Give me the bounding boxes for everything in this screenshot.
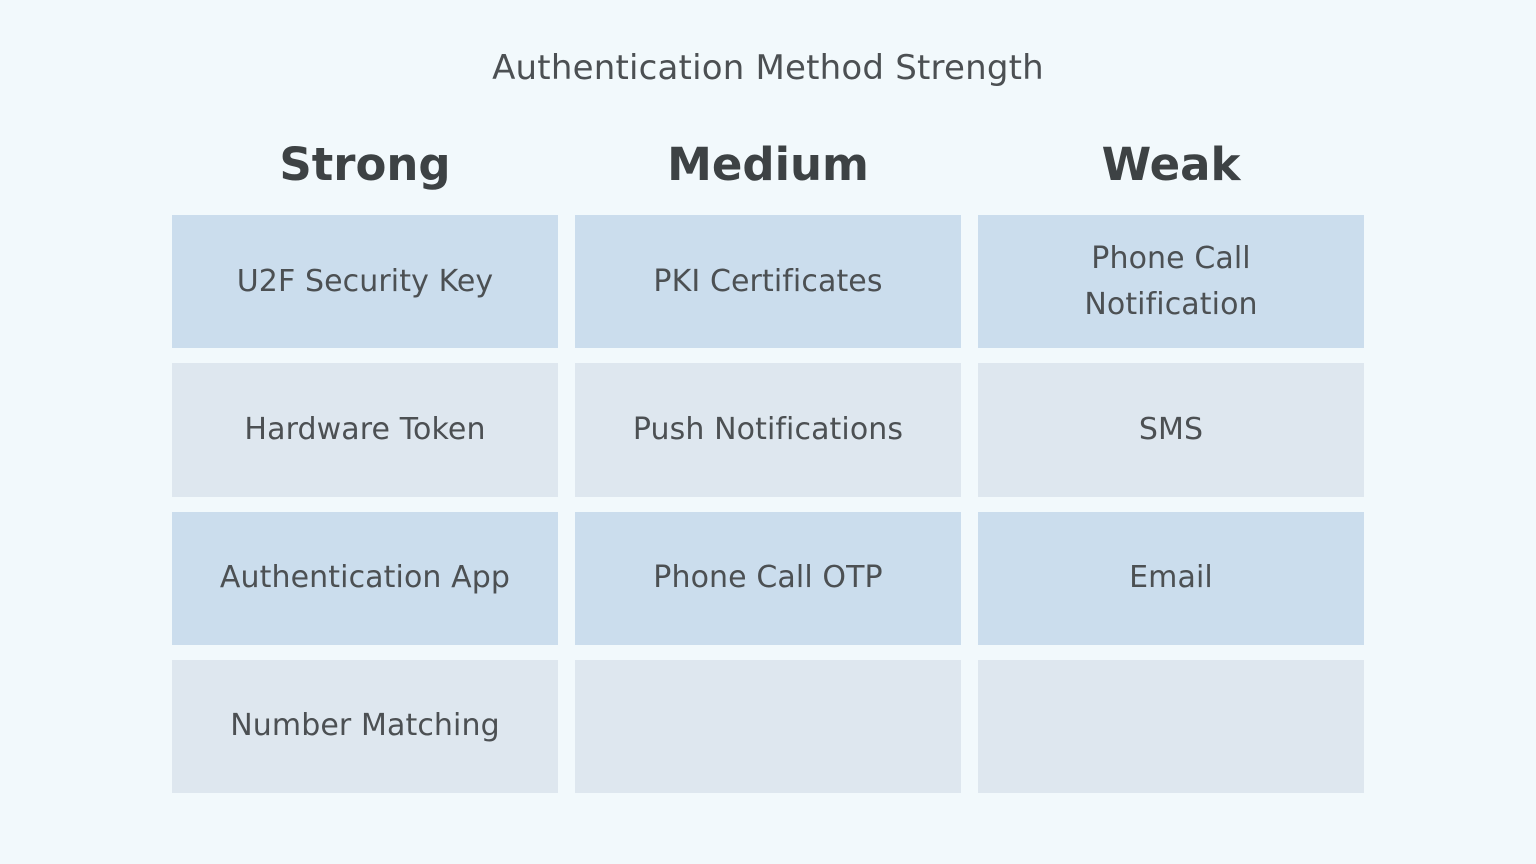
cell-strong-3: Authentication App — [172, 512, 558, 645]
column-header-row: Strong Medium Weak — [172, 136, 1364, 198]
cell-label: Number Matching — [230, 703, 499, 749]
cell-medium-3: Phone Call OTP — [575, 512, 961, 645]
cell-weak-1: Phone Call Notification — [978, 215, 1364, 348]
authentication-method-strength-chart: Authentication Method Strength Strong Me… — [0, 0, 1536, 864]
cell-medium-1: PKI Certificates — [575, 215, 961, 348]
cell-label: PKI Certificates — [653, 259, 882, 305]
cell-strong-2: Hardware Token — [172, 363, 558, 496]
cell-label: U2F Security Key — [237, 259, 494, 305]
method-grid: U2F Security Key PKI Certificates Phone … — [172, 215, 1364, 793]
cell-label: Email — [1129, 555, 1213, 601]
table-row: Authentication App Phone Call OTP Email — [172, 512, 1364, 645]
column-header-strong: Strong — [172, 136, 558, 198]
column-header-weak: Weak — [978, 136, 1364, 198]
cell-label: Push Notifications — [633, 407, 903, 453]
cell-medium-4-empty — [575, 660, 961, 793]
cell-label: Authentication App — [220, 555, 510, 601]
chart-title: Authentication Method Strength — [0, 47, 1536, 89]
cell-label: Phone Call OTP — [653, 555, 882, 601]
cell-medium-2: Push Notifications — [575, 363, 961, 496]
cell-weak-2: SMS — [978, 363, 1364, 496]
table-row: Number Matching — [172, 660, 1364, 793]
cell-strong-4: Number Matching — [172, 660, 558, 793]
table-row: Hardware Token Push Notifications SMS — [172, 363, 1364, 496]
cell-weak-3: Email — [978, 512, 1364, 645]
cell-label: Phone Call Notification — [1056, 236, 1285, 328]
cell-label: Hardware Token — [244, 407, 485, 453]
cell-label: SMS — [1139, 407, 1203, 453]
cell-strong-1: U2F Security Key — [172, 215, 558, 348]
table-row: U2F Security Key PKI Certificates Phone … — [172, 215, 1364, 348]
column-header-medium: Medium — [575, 136, 961, 198]
cell-weak-4-empty — [978, 660, 1364, 793]
